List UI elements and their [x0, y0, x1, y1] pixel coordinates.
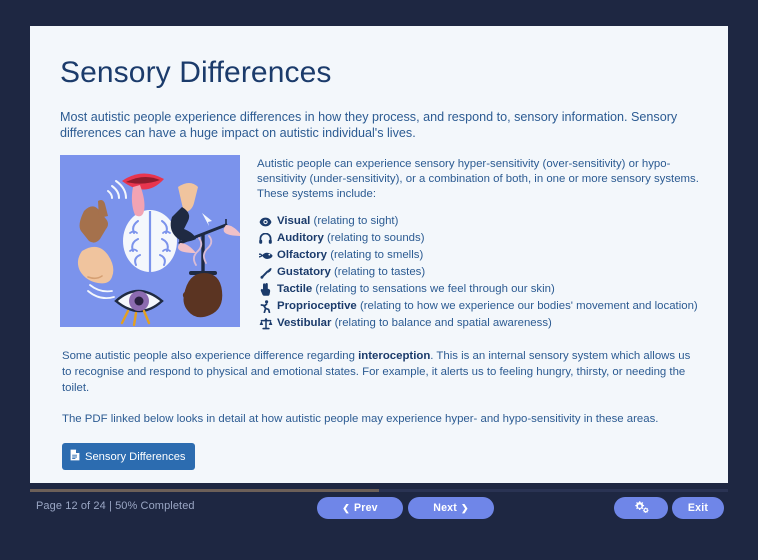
pdf-file-icon	[70, 449, 80, 464]
system-name: Olfactory	[277, 249, 327, 261]
interoception-paragraph: Some autistic people also experience dif…	[62, 349, 700, 396]
pdf-paragraph: The PDF linked below looks in detail at …	[62, 412, 700, 428]
content-row: Autistic people can experience sensory h…	[60, 155, 700, 332]
exit-button-label: Exit	[688, 502, 708, 514]
brain-graphic	[123, 210, 177, 272]
list-item: Auditory (relating to sounds)	[257, 230, 700, 247]
running-person-icon	[257, 298, 274, 314]
list-item: Vestibular (relating to balance and spat…	[257, 315, 700, 332]
right-intro-paragraph: Autistic people can experience sensory h…	[257, 157, 700, 202]
exit-button[interactable]: Exit	[672, 497, 724, 519]
system-desc: (relating to how we experience our bodie…	[360, 300, 698, 312]
prev-button-label: Prev	[354, 502, 378, 514]
next-button-label: Next	[433, 502, 457, 514]
list-item: Gustatory (relating to tastes)	[257, 264, 700, 281]
list-item: Visual (relating to sight)	[257, 213, 700, 230]
headphones-icon	[257, 230, 274, 246]
list-item: Olfactory (relating to smells)	[257, 247, 700, 264]
balance-scales-icon	[257, 315, 274, 331]
system-name: Vestibular	[277, 317, 331, 329]
interoception-term: interoception	[358, 350, 430, 362]
system-name: Auditory	[277, 232, 324, 244]
right-column: Autistic people can experience sensory h…	[240, 155, 700, 332]
progress-bar-fill	[30, 489, 379, 492]
sensory-systems-illustration	[60, 155, 240, 327]
prev-button[interactable]: ❮ Prev	[317, 497, 403, 519]
gears-icon	[634, 500, 649, 516]
chevron-left-icon: ❮	[342, 503, 350, 514]
page-status-text: Page 12 of 24 | 50% Completed	[36, 500, 195, 512]
list-item: Tactile (relating to sensations we feel …	[257, 281, 700, 298]
list-item: Proprioceptive (relating to how we exper…	[257, 298, 700, 315]
settings-button[interactable]	[614, 497, 668, 519]
chevron-right-icon: ❯	[461, 503, 469, 514]
system-name: Proprioceptive	[277, 300, 357, 312]
next-button[interactable]: Next ❯	[408, 497, 494, 519]
system-desc: (relating to sounds)	[327, 232, 425, 244]
system-desc: (relating to tastes)	[334, 266, 425, 278]
progress-bar-track	[30, 489, 728, 492]
system-desc: (relating to sight)	[314, 215, 399, 227]
intro-paragraph: Most autistic people experience differen…	[60, 109, 700, 142]
system-desc: (relating to sensations we feel through …	[315, 283, 554, 295]
system-desc: (relating to balance and spatial awarene…	[335, 317, 552, 329]
system-name: Visual	[277, 215, 310, 227]
utensil-icon	[257, 264, 274, 280]
system-name: Tactile	[277, 283, 312, 295]
eye-icon	[257, 213, 274, 229]
hand-touch-icon	[257, 281, 274, 297]
system-desc: (relating to smells)	[330, 249, 423, 261]
sensory-systems-list: Visual (relating to sight) Auditory (rel…	[257, 213, 700, 332]
nose-smell-icon	[257, 247, 274, 263]
slide-card: Sensory Differences Most autistic people…	[30, 26, 728, 483]
presentation-screen: Sensory Differences Most autistic people…	[0, 0, 758, 560]
pdf-button-label: Sensory Differences	[85, 451, 186, 463]
page-title: Sensory Differences	[60, 56, 700, 91]
illustration-graphic	[60, 155, 240, 327]
system-name: Gustatory	[277, 266, 331, 278]
interoception-pre: Some autistic people also experience dif…	[62, 350, 358, 362]
pdf-link-button[interactable]: Sensory Differences	[62, 443, 195, 470]
